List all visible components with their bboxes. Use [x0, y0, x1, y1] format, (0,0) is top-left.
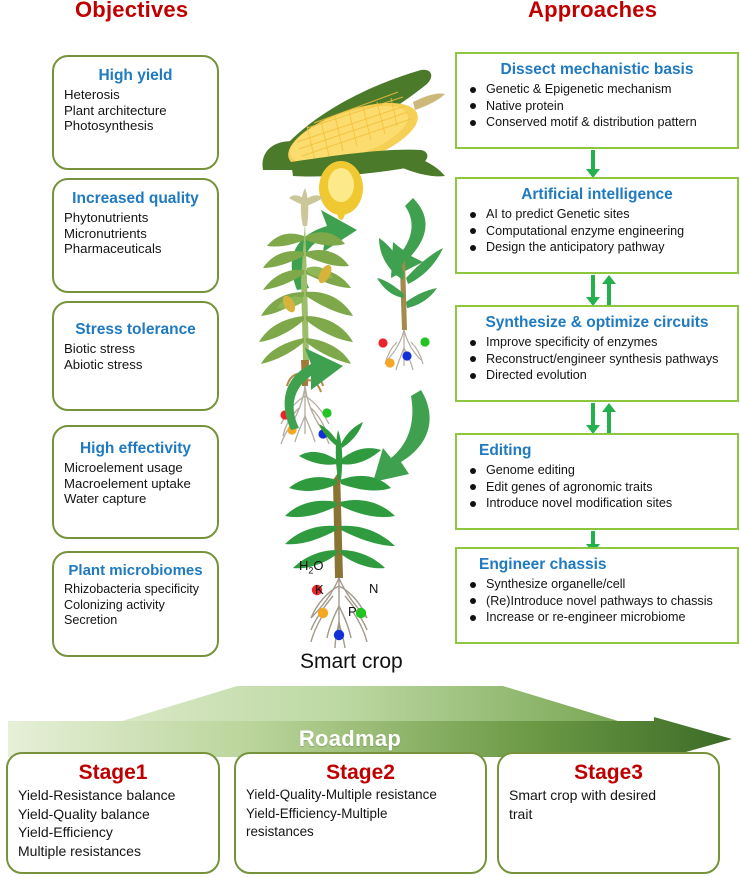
root-dot-water [378, 338, 387, 347]
approach-item: (Re)Introduce novel pathways to chassis [457, 593, 737, 610]
approach-box-synthesize-optimize-circuits[interactable]: Synthesize & optimize circuits Improve s… [455, 305, 739, 402]
objective-title: Stress tolerance [54, 303, 217, 338]
stage-item-list: Yield-Quality-Multiple resistance Yield-… [236, 785, 485, 842]
bullet-icon [470, 373, 476, 379]
bullet-icon [470, 501, 476, 507]
approach-item-label: Native protein [486, 99, 564, 113]
objective-item: Phytonutrients [54, 210, 217, 226]
bullet-icon [470, 212, 476, 218]
root-dot-nitrogen [322, 408, 331, 417]
approach-title: Artificial intelligence [457, 179, 737, 204]
objective-box-stress-tolerance[interactable]: Stress tolerance Biotic stress Abiotic s… [52, 301, 219, 411]
approach-item-list: Genetic & Epigenetic mechanism Native pr… [457, 79, 737, 138]
bullet-icon [470, 120, 476, 126]
objective-title: Increased quality [54, 180, 217, 207]
objective-item: Pharmaceuticals [54, 241, 217, 257]
objective-item-list: Microelement usage Macroelement uptake W… [54, 457, 217, 515]
approach-item-label: Conserved motif & distribution pattern [486, 115, 697, 129]
approach-item-list: AI to predict Genetic sites Computationa… [457, 204, 737, 263]
flow-arrow-down-1 [586, 150, 600, 178]
bullet-icon [470, 103, 476, 109]
objective-item: Microelement usage [54, 460, 217, 476]
approach-item-list: Improve specificity of enzymes Reconstru… [457, 332, 737, 391]
maize-plant-with-roots-illustration [285, 422, 395, 648]
stage-item-list: Smart crop with desired trait [499, 785, 718, 823]
bullet-icon [470, 598, 476, 604]
objectives-column-title: Objectives [75, 0, 188, 23]
bullet-icon [470, 228, 476, 234]
approach-item: Native protein [457, 98, 737, 115]
objective-title: High yield [54, 57, 217, 84]
approach-item-label: Directed evolution [486, 368, 587, 382]
bullet-icon [470, 356, 476, 362]
approach-item: Design the anticipatory pathway [457, 239, 737, 256]
approach-title: Dissect mechanistic basis [457, 54, 737, 79]
approach-item: AI to predict Genetic sites [457, 206, 737, 223]
approach-item: Improve specificity of enzymes [457, 334, 737, 351]
stage-item: Yield-Resistance balance [8, 786, 218, 805]
approach-box-artificial-intelligence[interactable]: Artificial intelligence AI to predict Ge… [455, 177, 739, 274]
approach-title: Synthesize & optimize circuits [457, 307, 737, 332]
approach-item: Computational enzyme engineering [457, 223, 737, 240]
root-dot-phosphorus [334, 630, 344, 640]
nutrient-label-phosphorus: P [348, 604, 357, 619]
bullet-icon [470, 245, 476, 251]
approach-item: Edit genes of agronomic traits [457, 479, 737, 496]
approach-item-list: Synthesize organelle/cell (Re)Introduce … [457, 574, 737, 633]
approach-item: Directed evolution [457, 367, 737, 384]
objective-item: Photosynthesis [54, 118, 217, 134]
center-illustration-group [245, 30, 460, 655]
bullet-icon [470, 468, 476, 474]
approach-title: Engineer chassis [457, 549, 737, 574]
approach-item-label: AI to predict Genetic sites [486, 207, 630, 221]
stage-item: Yield-Efficiency [8, 823, 218, 842]
approach-item: Genome editing [457, 462, 737, 479]
bullet-icon [470, 87, 476, 93]
approach-item: Genetic & Epigenetic mechanism [457, 81, 737, 98]
objective-box-high-yield[interactable]: High yield Heterosis Plant architecture … [52, 55, 219, 170]
approach-item-label: Genetic & Epigenetic mechanism [486, 82, 672, 96]
approach-item: Reconstruct/engineer synthesis pathways [457, 351, 737, 368]
stage-box-2[interactable]: Stage2 Yield-Quality-Multiple resistance… [234, 752, 487, 874]
green-cycle-arrow-up-left-lower [285, 348, 343, 430]
nutrient-label-potassium: K [315, 582, 324, 597]
objective-item-list: Biotic stress Abiotic stress [54, 338, 217, 380]
approach-item-label: Genome editing [486, 463, 575, 477]
root-dot-potassium [318, 608, 328, 618]
approach-item: Synthesize organelle/cell [457, 576, 737, 593]
objective-item: Abiotic stress [54, 357, 217, 373]
flow-arrow-down-3 [586, 403, 600, 435]
objective-item: Secretion [54, 613, 217, 629]
objective-item: Heterosis [54, 87, 217, 103]
stage-item: Yield-Quality balance [8, 805, 218, 824]
stage-box-3[interactable]: Stage3 Smart crop with desired trait [497, 752, 720, 874]
bullet-icon [470, 340, 476, 346]
approach-title: Editing [457, 435, 737, 460]
objective-item: Biotic stress [54, 341, 217, 357]
stage-title: Stage3 [499, 754, 718, 785]
root-dot-phosphorus [402, 351, 411, 360]
objective-item: Water capture [54, 491, 217, 507]
approach-box-engineer-chassis[interactable]: Engineer chassis Synthesize organelle/ce… [455, 547, 739, 644]
objective-item-list: Phytonutrients Micronutrients Pharmaceut… [54, 207, 217, 265]
approach-item-label: Introduce novel modification sites [486, 496, 672, 510]
approach-item-label: (Re)Introduce novel pathways to chassis [486, 594, 713, 608]
objective-item: Colonizing activity [54, 598, 217, 614]
objective-item: Plant architecture [54, 103, 217, 119]
stage-box-1[interactable]: Stage1 Yield-Resistance balance Yield-Qu… [6, 752, 220, 874]
objective-box-high-effectivity[interactable]: High effectivity Microelement usage Macr… [52, 425, 219, 539]
flow-arrow-up-3 [602, 403, 616, 435]
approach-item-label: Computational enzyme engineering [486, 224, 684, 238]
flow-arrow-up-2 [602, 275, 616, 307]
stage-item: Multiple resistances [8, 842, 218, 861]
approach-item: Conserved motif & distribution pattern [457, 114, 737, 131]
approach-item: Increase or re-engineer microbiome [457, 609, 737, 626]
nutrient-symbol-tail: O [313, 558, 323, 573]
approach-item-label: Reconstruct/engineer synthesis pathways [486, 352, 718, 366]
root-dot-potassium [385, 358, 394, 367]
stage-item: trait [499, 805, 718, 824]
flow-arrow-down-2 [586, 275, 600, 307]
objective-title: High effectivity [54, 427, 217, 457]
stage-title: Stage2 [236, 754, 485, 785]
objective-item-list: Rhizobacteria specificity Colonizing act… [54, 579, 217, 637]
root-dot-nitrogen [356, 608, 366, 618]
approach-item-label: Synthesize organelle/cell [486, 577, 625, 591]
stage-item: Smart crop with desired [499, 786, 718, 805]
nutrient-label-nitrogen: N [369, 581, 378, 596]
approach-item-label: Design the anticipatory pathway [486, 240, 665, 254]
objective-box-increased-quality[interactable]: Increased quality Phytonutrients Micronu… [52, 178, 219, 293]
approach-box-editing[interactable]: Editing Genome editing Edit genes of agr… [455, 433, 739, 530]
bullet-icon [470, 484, 476, 490]
stage-title: Stage1 [8, 754, 218, 785]
nutrient-label-water: H2O [299, 558, 324, 576]
objective-item-list: Heterosis Plant architecture Photosynthe… [54, 84, 217, 142]
approach-item-label: Improve specificity of enzymes [486, 335, 657, 349]
green-cycle-arrow-down-right-lower [373, 390, 430, 482]
objective-title: Plant microbiomes [54, 553, 217, 579]
approach-box-dissect-mechanistic-basis[interactable]: Dissect mechanistic basis Genetic & Epig… [455, 52, 739, 149]
objective-box-plant-microbiomes[interactable]: Plant microbiomes Rhizobacteria specific… [52, 551, 219, 657]
bullet-icon [470, 615, 476, 621]
approach-item: Introduce novel modification sites [457, 495, 737, 512]
objective-item: Micronutrients [54, 226, 217, 242]
stage-item: resistances [236, 823, 485, 842]
approach-item-list: Genome editing Edit genes of agronomic t… [457, 460, 737, 519]
objective-item: Macroelement uptake [54, 476, 217, 492]
approach-item-label: Edit genes of agronomic traits [486, 480, 653, 494]
approaches-column-title: Approaches [528, 0, 657, 23]
roadmap-trapezoid [122, 686, 618, 721]
smart-crop-label: Smart crop [300, 650, 403, 674]
objective-item: Rhizobacteria specificity [54, 582, 217, 598]
nutrient-symbol: H [299, 558, 308, 573]
bullet-icon [470, 582, 476, 588]
stage-item: Yield-Quality-Multiple resistance [236, 786, 485, 805]
stage-item-list: Yield-Resistance balance Yield-Quality b… [8, 785, 218, 860]
root-dot-nitrogen [420, 337, 429, 346]
approach-item-label: Increase or re-engineer microbiome [486, 610, 686, 624]
stage-item: Yield-Efficiency-Multiple [236, 805, 485, 824]
